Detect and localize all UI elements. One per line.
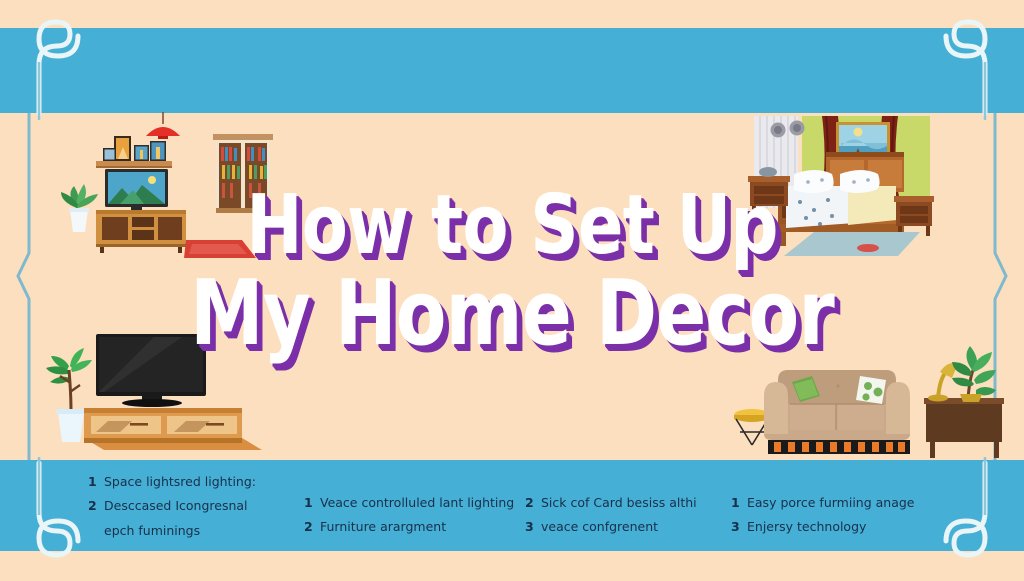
list-item-number: 1	[731, 491, 747, 515]
list-item: 3 veace confgrenent	[525, 515, 725, 539]
list-item-number: 3	[731, 515, 747, 539]
list-item-number: 1	[304, 491, 320, 515]
list-column-1: 1 Space lightsred lighting: 2 Desccased …	[88, 470, 298, 543]
list-item-label: Furniture arargment	[320, 515, 519, 539]
list-item: 1 Veace controlluled lant lighting	[304, 491, 519, 515]
list-item-label: Sick cof Card besiss althi	[541, 491, 725, 515]
sofa-illustration	[720, 336, 1010, 461]
list-item-label: Space lightsred lighting:	[104, 470, 298, 494]
list-item-label: Desccased Icongresnal	[104, 494, 298, 518]
bedroom-illustration	[740, 108, 1012, 260]
list-item: 2 Desccased Icongresnal	[88, 494, 298, 518]
list-item-continuation: epch fuminings	[88, 519, 298, 543]
list-item: 2 Sick cof Card besiss althi	[525, 491, 725, 515]
list-item-number: 2	[88, 494, 104, 518]
list-item: 3 Enjersy technology	[731, 515, 931, 539]
bottom-list-columns: 1 Space lightsred lighting: 2 Desccased …	[0, 470, 1024, 550]
living-room-illustration	[48, 112, 298, 262]
list-column-3: 2 Sick cof Card besiss althi 3 veace con…	[525, 470, 725, 540]
list-item-number: 2	[525, 491, 541, 515]
list-item-number: 1	[88, 470, 104, 494]
list-item-number: 2	[304, 515, 320, 539]
list-item-label: Easy porce furmiing anage	[747, 491, 931, 515]
list-item: 1 Easy porce furmiing anage	[731, 491, 931, 515]
tv-console-illustration	[34, 322, 302, 462]
list-item: 1 Space lightsred lighting:	[88, 470, 298, 494]
list-item-label: Veace controlluled lant lighting	[320, 491, 519, 515]
list-item-label: veace confgrenent	[541, 515, 725, 539]
spiral-corner-ornament-top-left	[6, 2, 156, 122]
poster-canvas: How to Set Up My Home Decor 1 Space ligh…	[0, 0, 1024, 581]
list-column-2: 1 Veace controlluled lant lighting 2 Fur…	[304, 470, 519, 540]
list-item-number: 3	[525, 515, 541, 539]
spiral-corner-ornament-top-right	[868, 2, 1018, 122]
list-item: 2 Furniture arargment	[304, 515, 519, 539]
list-item-label: Enjersy technology	[747, 515, 931, 539]
list-column-4: 1 Easy porce furmiing anage 3 Enjersy te…	[731, 470, 931, 540]
